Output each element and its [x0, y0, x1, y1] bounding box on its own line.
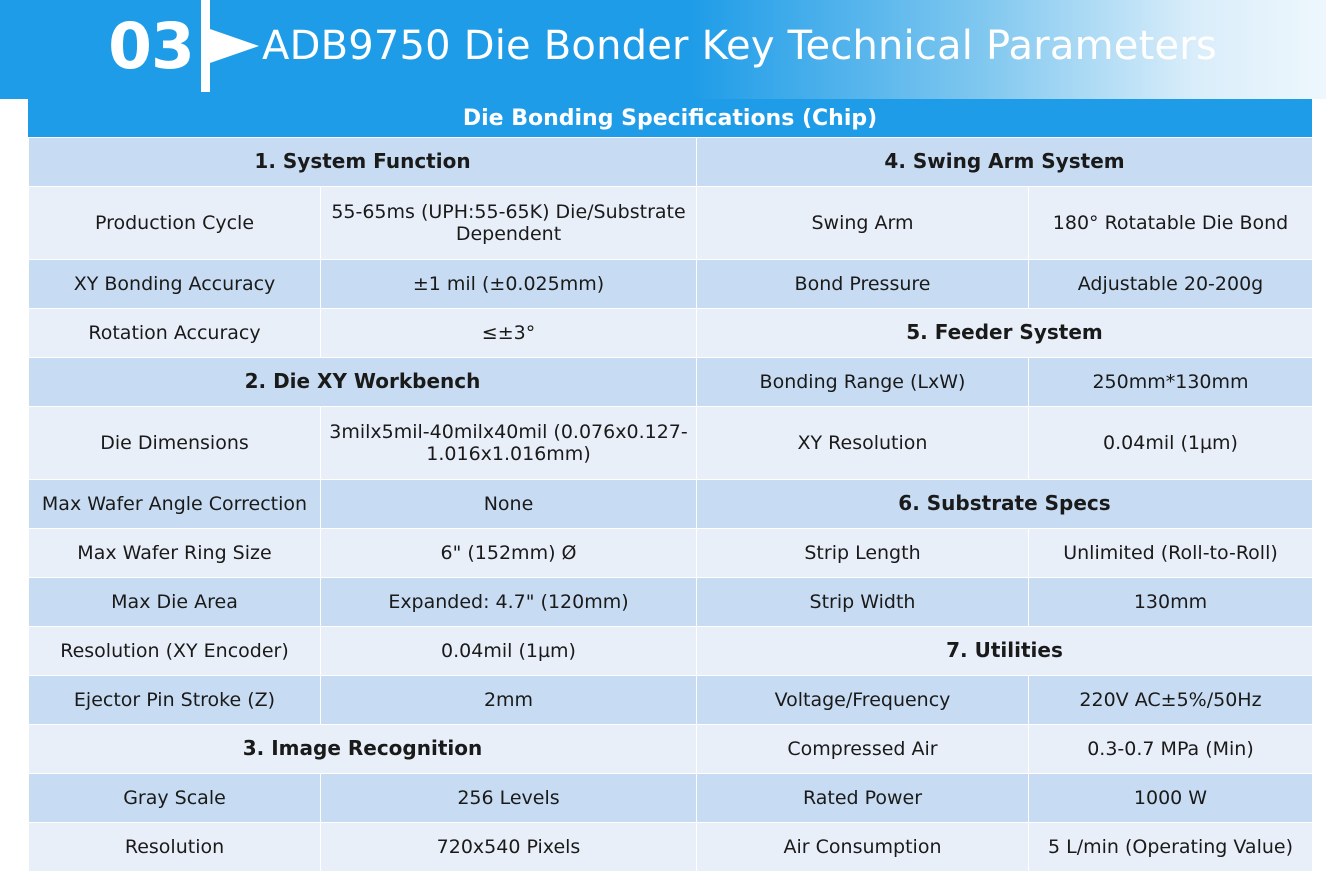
right-param-label: Rated Power [697, 774, 1029, 823]
right-section-header: 4. Swing Arm System [697, 138, 1313, 187]
left-param-label: Resolution [29, 823, 321, 872]
banner-bar-2 [57, 0, 72, 92]
right-param-value: 220V AC±5%/50Hz [1029, 676, 1313, 725]
right-param-value: 180° Rotatable Die Bond [1029, 187, 1313, 260]
table-row: 3. Image RecognitionCompressed Air0.3-0.… [29, 725, 1313, 774]
left-param-label: Production Cycle [29, 187, 321, 260]
right-param-value: Adjustable 20-200g [1029, 260, 1313, 309]
spec-table-grid: 1. System Function4. Swing Arm SystemPro… [28, 137, 1313, 872]
left-param-value: ±1 mil (±0.025mm) [321, 260, 697, 309]
right-param-value: 130mm [1029, 578, 1313, 627]
left-param-label: Max Die Area [29, 578, 321, 627]
left-param-label: Max Wafer Ring Size [29, 529, 321, 578]
banner-bar-1 [28, 0, 50, 92]
table-row: Max Wafer Ring Size6" (152mm) ØStrip Len… [29, 529, 1313, 578]
left-param-label: XY Bonding Accuracy [29, 260, 321, 309]
left-section-header: 3. Image Recognition [29, 725, 697, 774]
page-title: ADB9750 Die Bonder Key Technical Paramet… [262, 0, 1217, 92]
left-param-label: Gray Scale [29, 774, 321, 823]
table-row: Rotation Accuracy≤±3°5. Feeder System [29, 309, 1313, 358]
slide-banner: 03 ADB9750 Die Bonder Key Technical Para… [0, 0, 1326, 99]
left-param-value: 0.04mil (1µm) [321, 627, 697, 676]
right-param-label: Compressed Air [697, 725, 1029, 774]
table-row: Ejector Pin Stroke (Z)2mmVoltage/Frequen… [29, 676, 1313, 725]
table-row: 1. System Function4. Swing Arm System [29, 138, 1313, 187]
left-param-value: 256 Levels [321, 774, 697, 823]
left-param-value: 2mm [321, 676, 697, 725]
table-row: Resolution (XY Encoder)0.04mil (1µm)7. U… [29, 627, 1313, 676]
right-param-value: Unlimited (Roll-to-Roll) [1029, 529, 1313, 578]
triangle-right-icon [201, 0, 261, 92]
right-param-value: 0.04mil (1µm) [1029, 407, 1313, 480]
right-param-label: Strip Width [697, 578, 1029, 627]
table-row: XY Bonding Accuracy±1 mil (±0.025mm)Bond… [29, 260, 1313, 309]
left-param-value: 3milx5mil-40milx40mil (0.076x0.127-1.016… [321, 407, 697, 480]
left-section-header: 2. Die XY Workbench [29, 358, 697, 407]
left-param-label: Max Wafer Angle Correction [29, 480, 321, 529]
table-row: Max Wafer Angle CorrectionNone6. Substra… [29, 480, 1313, 529]
table-row: Production Cycle55-65ms (UPH:55-65K) Die… [29, 187, 1313, 260]
right-param-value: 1000 W [1029, 774, 1313, 823]
left-param-value: ≤±3° [321, 309, 697, 358]
right-param-label: Strip Length [697, 529, 1029, 578]
left-param-value: 55-65ms (UPH:55-65K) Die/Substrate Depen… [321, 187, 697, 260]
slide-page: 03 ADB9750 Die Bonder Key Technical Para… [0, 0, 1326, 748]
right-section-header: 7. Utilities [697, 627, 1313, 676]
table-row: 2. Die XY WorkbenchBonding Range (LxW)25… [29, 358, 1313, 407]
table-title: Die Bonding Specifications (Chip) [28, 99, 1312, 137]
table-row: Resolution720x540 PixelsAir Consumption5… [29, 823, 1313, 872]
right-param-value: 250mm*130mm [1029, 358, 1313, 407]
right-param-value: 5 L/min (Operating Value) [1029, 823, 1313, 872]
left-param-label: Die Dimensions [29, 407, 321, 480]
right-section-header: 6. Substrate Specs [697, 480, 1313, 529]
table-row: Gray Scale256 LevelsRated Power1000 W [29, 774, 1313, 823]
table-row: Max Die AreaExpanded: 4.7" (120mm)Strip … [29, 578, 1313, 627]
section-number: 03 [101, 0, 201, 92]
left-param-value: 720x540 Pixels [321, 823, 697, 872]
right-param-label: Bond Pressure [697, 260, 1029, 309]
banner-bar-3 [79, 0, 94, 92]
left-param-value: 6" (152mm) Ø [321, 529, 697, 578]
right-section-header: 5. Feeder System [697, 309, 1313, 358]
right-param-label: Bonding Range (LxW) [697, 358, 1029, 407]
right-param-value: 0.3-0.7 MPa (Min) [1029, 725, 1313, 774]
spec-table: Die Bonding Specifications (Chip) 1. Sys… [28, 99, 1312, 872]
right-param-label: Swing Arm [697, 187, 1029, 260]
left-param-label: Rotation Accuracy [29, 309, 321, 358]
right-param-label: Voltage/Frequency [697, 676, 1029, 725]
right-param-label: XY Resolution [697, 407, 1029, 480]
left-param-value: Expanded: 4.7" (120mm) [321, 578, 697, 627]
left-param-label: Resolution (XY Encoder) [29, 627, 321, 676]
right-param-label: Air Consumption [697, 823, 1029, 872]
left-param-label: Ejector Pin Stroke (Z) [29, 676, 321, 725]
left-section-header: 1. System Function [29, 138, 697, 187]
table-row: Die Dimensions3milx5mil-40milx40mil (0.0… [29, 407, 1313, 480]
left-param-value: None [321, 480, 697, 529]
